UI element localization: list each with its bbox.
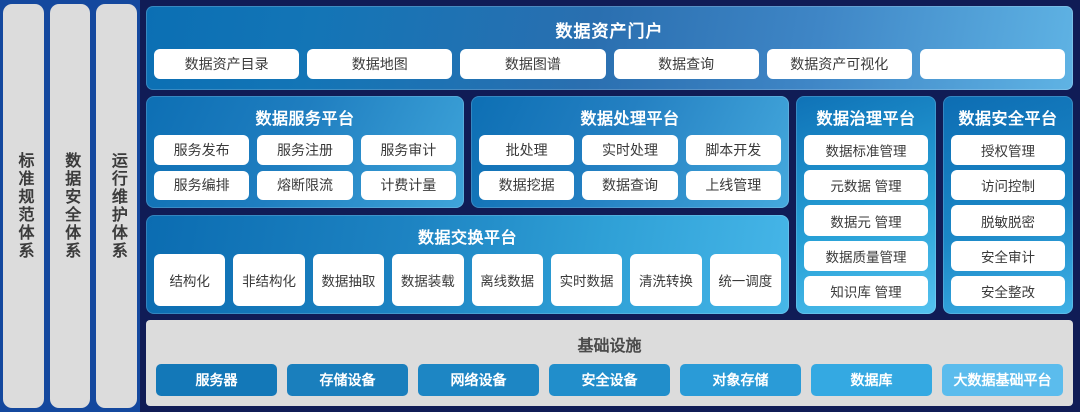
infra-item-object-storage[interactable]: 对象存储 xyxy=(680,364,801,396)
security-item-desensitization[interactable]: 脱敏脱密 xyxy=(951,205,1065,235)
governance-item-data-element[interactable]: 数据元 管理 xyxy=(804,205,928,235)
process-item-realtime[interactable]: 实时处理 xyxy=(582,135,677,165)
service-item-circuit-breaker[interactable]: 熔断限流 xyxy=(257,171,352,201)
exchange-item-extract[interactable]: 数据抽取 xyxy=(313,254,384,306)
governance-platform-card: 数据治理平台 数据标准管理 元数据 管理 数据元 管理 数据质量管理 知识库 管… xyxy=(796,96,936,314)
exchange-item-cleansing[interactable]: 清洗转换 xyxy=(630,254,701,306)
service-item-orchestration[interactable]: 服务编排 xyxy=(154,171,249,201)
exchange-item-unstructured[interactable]: 非结构化 xyxy=(233,254,304,306)
main-frame: 数据资产门户 数据资产目录 数据地图 数据图谱 数据查询 数据资产可视化 数据服… xyxy=(140,0,1080,412)
governance-item-data-quality[interactable]: 数据质量管理 xyxy=(804,241,928,271)
sidebar-item-operations[interactable]: 运行维护体系 xyxy=(96,4,137,408)
infra-item-database[interactable]: 数据库 xyxy=(811,364,932,396)
sidebar-item-standards[interactable]: 标准规范体系 xyxy=(3,4,44,408)
service-platform-row-1: 服务编排 熔断限流 计费计量 xyxy=(154,171,456,201)
portal-item-graph[interactable]: 数据图谱 xyxy=(460,49,605,79)
governance-item-knowledge-base[interactable]: 知识库 管理 xyxy=(804,276,928,306)
portal-section: 数据资产门户 数据资产目录 数据地图 数据图谱 数据查询 数据资产可视化 xyxy=(146,6,1073,90)
portal-item-catalog[interactable]: 数据资产目录 xyxy=(154,49,299,79)
service-platform-card: 数据服务平台 服务发布 服务注册 服务审计 服务编排 熔断限流 计费计量 xyxy=(146,96,464,208)
governance-item-data-standard[interactable]: 数据标准管理 xyxy=(804,135,928,165)
process-item-batch[interactable]: 批处理 xyxy=(479,135,574,165)
security-platform-title: 数据安全平台 xyxy=(951,102,1065,135)
sidebar-item-label: 数据安全体系 xyxy=(61,152,79,260)
infra-item-server[interactable]: 服务器 xyxy=(156,364,277,396)
infra-item-network[interactable]: 网络设备 xyxy=(418,364,539,396)
process-platform-row-0: 批处理 实时处理 脚本开发 xyxy=(479,135,781,165)
service-item-audit[interactable]: 服务审计 xyxy=(361,135,456,165)
service-item-billing[interactable]: 计费计量 xyxy=(361,171,456,201)
architecture-diagram: 标准规范体系 数据安全体系 运行维护体系 数据资产门户 数据资产目录 数据地图 … xyxy=(0,0,1080,412)
sidebar-item-data-security[interactable]: 数据安全体系 xyxy=(50,4,91,408)
process-platform-items: 批处理 实时处理 脚本开发 数据挖据 数据查询 上线管理 xyxy=(479,135,781,200)
exchange-item-offline[interactable]: 离线数据 xyxy=(472,254,543,306)
service-item-publish[interactable]: 服务发布 xyxy=(154,135,249,165)
service-platform-items: 服务发布 服务注册 服务审计 服务编排 熔断限流 计费计量 xyxy=(154,135,456,200)
portal-items: 数据资产目录 数据地图 数据图谱 数据查询 数据资产可视化 xyxy=(154,49,1065,82)
exchange-item-structured[interactable]: 结构化 xyxy=(154,254,225,306)
middle-region: 数据服务平台 服务发布 服务注册 服务审计 服务编排 熔断限流 计费计量 xyxy=(146,96,1073,314)
process-item-script-dev[interactable]: 脚本开发 xyxy=(686,135,781,165)
governance-platform-title: 数据治理平台 xyxy=(804,102,928,135)
security-platform-items: 授权管理 访问控制 脱敏脱密 安全审计 安全整改 xyxy=(951,135,1065,306)
governance-item-metadata[interactable]: 元数据 管理 xyxy=(804,170,928,200)
exchange-item-scheduling[interactable]: 统一调度 xyxy=(710,254,781,306)
process-item-query[interactable]: 数据查询 xyxy=(582,171,677,201)
infrastructure-items: 服务器 存储设备 网络设备 安全设备 对象存储 数据库 大数据基础平台 xyxy=(156,364,1063,397)
infra-item-bigdata-platform[interactable]: 大数据基础平台 xyxy=(942,364,1063,396)
process-item-deployment[interactable]: 上线管理 xyxy=(686,171,781,201)
infrastructure-title: 基础设施 xyxy=(156,326,1063,364)
security-item-authorization[interactable]: 授权管理 xyxy=(951,135,1065,165)
sidebar-pillar-wrap-0: 标准规范体系 xyxy=(0,0,47,412)
exchange-item-load[interactable]: 数据装载 xyxy=(392,254,463,306)
middle-top-row: 数据服务平台 服务发布 服务注册 服务审计 服务编排 熔断限流 计费计量 xyxy=(146,96,789,208)
sidebar-item-label: 运行维护体系 xyxy=(107,152,125,260)
exchange-platform-card: 数据交换平台 结构化 非结构化 数据抽取 数据装载 离线数据 实时数据 清洗转换… xyxy=(146,215,789,314)
portal-title: 数据资产门户 xyxy=(154,12,1065,49)
portal-item-empty[interactable] xyxy=(920,49,1065,79)
process-platform-row-1: 数据挖据 数据查询 上线管理 xyxy=(479,171,781,201)
portal-item-map[interactable]: 数据地图 xyxy=(307,49,452,79)
infra-item-storage[interactable]: 存储设备 xyxy=(287,364,408,396)
exchange-platform-items: 结构化 非结构化 数据抽取 数据装载 离线数据 实时数据 清洗转换 统一调度 xyxy=(154,254,781,306)
portal-item-visualization[interactable]: 数据资产可视化 xyxy=(767,49,912,79)
infrastructure-section: 基础设施 服务器 存储设备 网络设备 安全设备 对象存储 数据库 大数据基础平台 xyxy=(146,320,1073,406)
security-item-security-audit[interactable]: 安全审计 xyxy=(951,241,1065,271)
service-platform-row-0: 服务发布 服务注册 服务审计 xyxy=(154,135,456,165)
sidebar-pillar-wrap-2: 运行维护体系 xyxy=(93,0,140,412)
process-platform-card: 数据处理平台 批处理 实时处理 脚本开发 数据挖据 数据查询 上线管理 xyxy=(471,96,789,208)
governance-platform-items: 数据标准管理 元数据 管理 数据元 管理 数据质量管理 知识库 管理 xyxy=(804,135,928,306)
process-platform-title: 数据处理平台 xyxy=(479,102,781,135)
middle-left-group: 数据服务平台 服务发布 服务注册 服务审计 服务编排 熔断限流 计费计量 xyxy=(146,96,789,314)
sidebar-pillar-wrap-1: 数据安全体系 xyxy=(47,0,94,412)
process-item-mining[interactable]: 数据挖据 xyxy=(479,171,574,201)
sidebar-item-label: 标准规范体系 xyxy=(14,152,32,260)
security-item-access-control[interactable]: 访问控制 xyxy=(951,170,1065,200)
security-platform-card: 数据安全平台 授权管理 访问控制 脱敏脱密 安全审计 安全整改 xyxy=(943,96,1073,314)
exchange-item-realtime[interactable]: 实时数据 xyxy=(551,254,622,306)
security-item-security-rectification[interactable]: 安全整改 xyxy=(951,276,1065,306)
portal-item-query[interactable]: 数据查询 xyxy=(614,49,759,79)
sidebar-pillars: 标准规范体系 数据安全体系 运行维护体系 xyxy=(0,0,140,412)
service-item-register[interactable]: 服务注册 xyxy=(257,135,352,165)
exchange-platform-row: 结构化 非结构化 数据抽取 数据装载 离线数据 实时数据 清洗转换 统一调度 xyxy=(154,254,781,306)
infra-item-security-device[interactable]: 安全设备 xyxy=(549,364,670,396)
service-platform-title: 数据服务平台 xyxy=(154,102,456,135)
exchange-platform-title: 数据交换平台 xyxy=(154,221,781,254)
